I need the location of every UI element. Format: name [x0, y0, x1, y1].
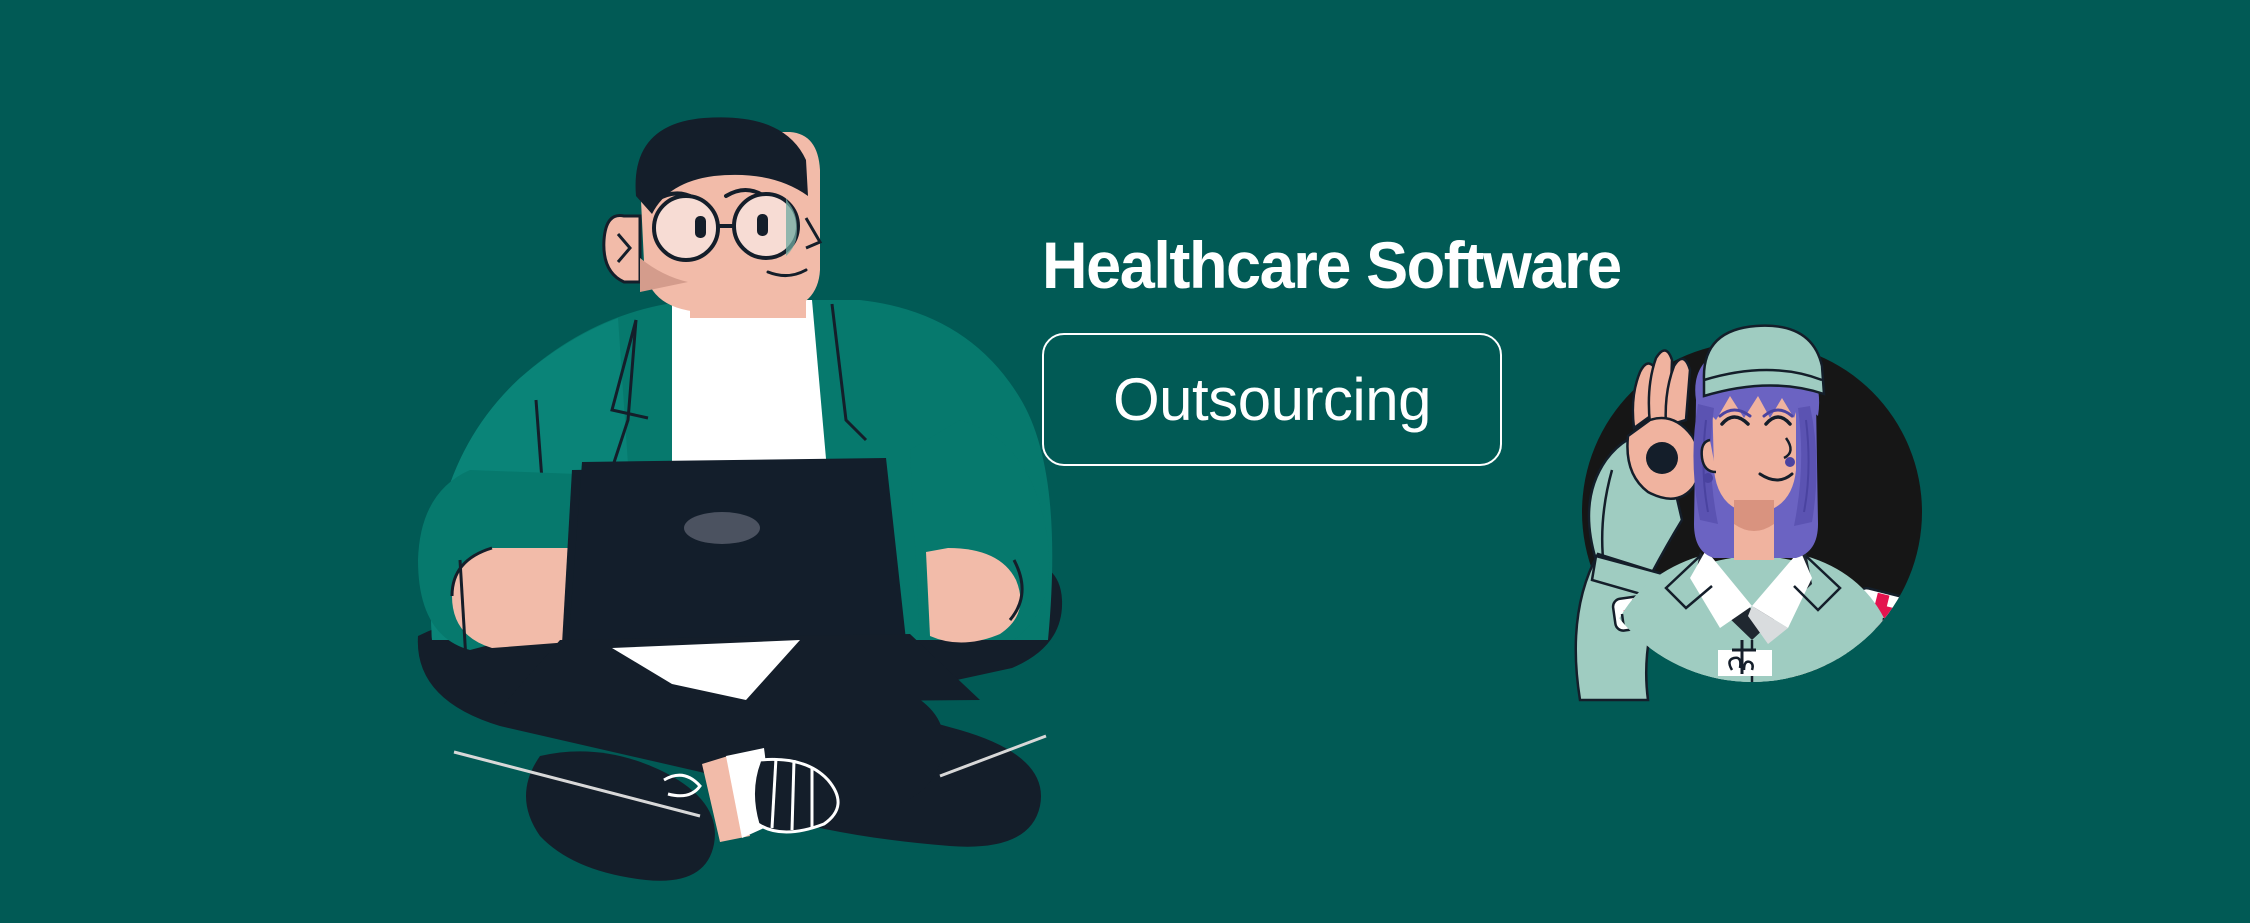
healthcare-software-banner: Healthcare Software Outsourcing — [0, 0, 2250, 923]
outsourcing-label: Outsourcing — [1113, 365, 1431, 434]
page-title: Healthcare Software — [1042, 232, 1768, 299]
nurse-head — [1693, 326, 1824, 560]
earring — [1703, 473, 1713, 483]
nurse-cap — [1704, 326, 1824, 396]
outsourcing-badge[interactable]: Outsourcing — [1042, 333, 1502, 466]
ok-hand-circle — [1646, 442, 1678, 474]
headline-block: Healthcare Software — [1042, 232, 1802, 299]
nose-stud — [1785, 457, 1795, 467]
